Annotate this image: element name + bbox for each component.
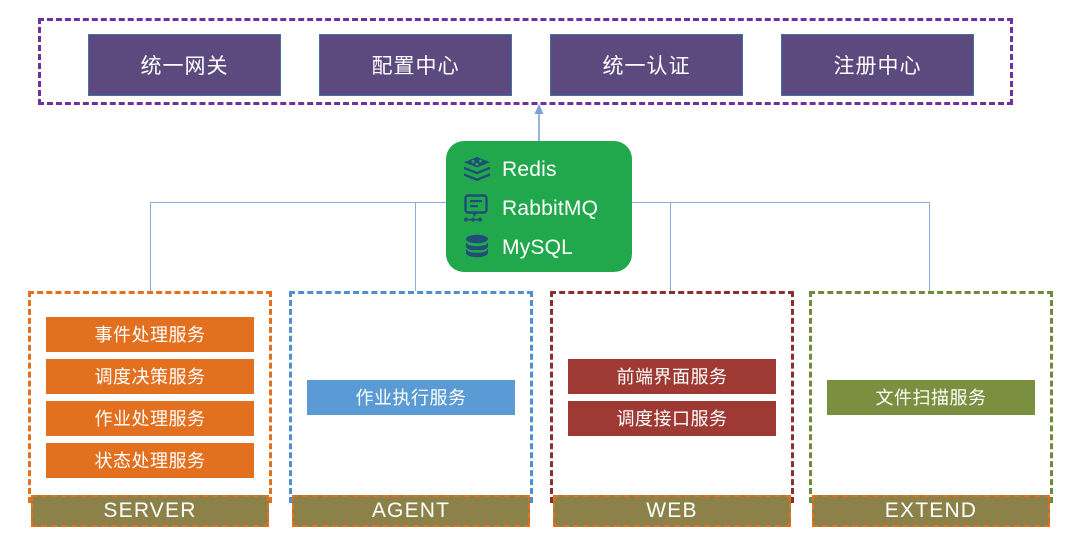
middleware-item-label: MySQL: [502, 236, 573, 260]
service-box[interactable]: 调度接口服务: [568, 401, 776, 436]
service-box[interactable]: 作业执行服务: [307, 380, 515, 415]
service-label: 事件处理服务: [95, 321, 206, 347]
module-label-text: EXTEND: [885, 499, 977, 523]
platform-box-gateway[interactable]: 统一网关: [88, 34, 281, 96]
connector-bus-right: [632, 202, 930, 203]
service-label: 作业处理服务: [95, 405, 206, 431]
middleware-item-label: RabbitMQ: [502, 197, 598, 221]
module-label-agent: AGENT: [292, 495, 530, 527]
connector-drop-extend: [929, 202, 930, 292]
connector-bus-left: [150, 202, 446, 203]
service-box[interactable]: 事件处理服务: [46, 317, 254, 352]
module-service-list: 事件处理服务 调度决策服务 作业处理服务 状态处理服务: [28, 291, 272, 503]
module-extend: 文件扫描服务 EXTEND: [809, 291, 1053, 529]
platform-box-label: 统一网关: [141, 50, 229, 80]
platform-box-auth[interactable]: 统一认证: [550, 34, 743, 96]
service-box[interactable]: 作业处理服务: [46, 401, 254, 436]
connector-drop-agent: [415, 202, 416, 292]
platform-container: 统一网关 配置中心 统一认证 注册中心: [38, 18, 1013, 105]
module-service-list: 作业执行服务: [289, 291, 533, 503]
module-web: 前端界面服务 调度接口服务 WEB: [550, 291, 794, 529]
service-label: 文件扫描服务: [876, 384, 987, 410]
redis-stack-icon: [460, 155, 494, 185]
service-box[interactable]: 状态处理服务: [46, 443, 254, 478]
platform-box-label: 统一认证: [603, 50, 691, 80]
architecture-diagram: 统一网关 配置中心 统一认证 注册中心: [0, 0, 1080, 545]
platform-box-registry[interactable]: 注册中心: [781, 34, 974, 96]
module-server: 事件处理服务 调度决策服务 作业处理服务 状态处理服务 SERVER: [28, 291, 272, 529]
module-label-extend: EXTEND: [812, 495, 1050, 527]
arrow-up-icon: [533, 104, 545, 142]
service-label: 调度接口服务: [617, 405, 728, 431]
service-box[interactable]: 前端界面服务: [568, 359, 776, 394]
service-label: 作业执行服务: [356, 384, 467, 410]
module-label-text: SERVER: [103, 499, 196, 523]
service-box[interactable]: 调度决策服务: [46, 359, 254, 394]
module-label-text: AGENT: [372, 499, 450, 523]
connector-drop-web: [670, 202, 671, 292]
module-agent: 作业执行服务 AGENT: [289, 291, 533, 529]
module-service-list: 文件扫描服务: [809, 291, 1053, 503]
middleware-item-mysql: MySQL: [460, 229, 632, 266]
middleware-item-redis: Redis: [460, 151, 632, 188]
platform-box-label: 注册中心: [834, 50, 922, 80]
service-label: 状态处理服务: [95, 447, 206, 473]
mysql-database-icon: [460, 233, 494, 263]
module-label-text: WEB: [646, 499, 697, 523]
platform-box-label: 配置中心: [372, 50, 460, 80]
service-label: 前端界面服务: [617, 363, 728, 389]
platform-box-config[interactable]: 配置中心: [319, 34, 512, 96]
module-service-list: 前端界面服务 调度接口服务: [550, 291, 794, 503]
service-label: 调度决策服务: [95, 363, 206, 389]
module-label-web: WEB: [553, 495, 791, 527]
rabbitmq-message-icon: [460, 194, 494, 224]
module-label-server: SERVER: [31, 495, 269, 527]
connector-drop-server: [150, 202, 151, 292]
middleware-item-label: Redis: [502, 158, 557, 182]
middleware-item-rabbitmq: RabbitMQ: [460, 190, 632, 227]
middleware-card: Redis RabbitMQ: [446, 141, 632, 272]
service-box[interactable]: 文件扫描服务: [827, 380, 1035, 415]
